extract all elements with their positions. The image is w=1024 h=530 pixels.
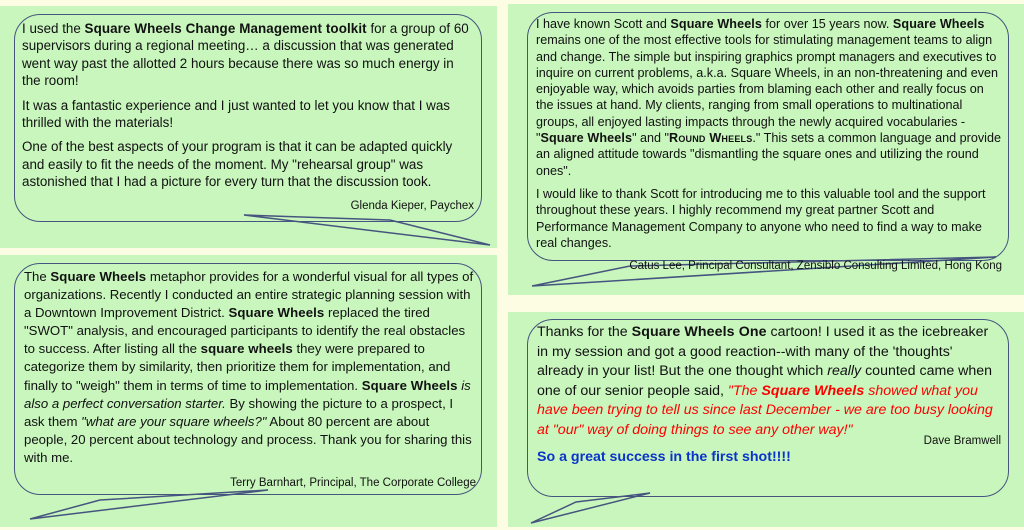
emphasis-square-wheels: Square Wheels bbox=[228, 305, 324, 320]
speech-bubble-tail-dave-bramwell bbox=[526, 490, 656, 530]
emphasis-square-wheels: Square Wheels bbox=[540, 131, 632, 145]
text-run: " and " bbox=[632, 131, 669, 145]
paragraph: It was a fantastic experience and I just… bbox=[22, 97, 474, 132]
paragraph: I have known Scott and Square Wheels for… bbox=[536, 16, 1002, 179]
emphasis-round-wheels: Round Wheels bbox=[669, 131, 752, 145]
emphasis-square-wheels: Square Wheels bbox=[670, 17, 762, 31]
text-run: for over 15 years now. bbox=[762, 17, 893, 31]
attribution-dave-bramwell: Dave Bramwell bbox=[924, 432, 1001, 452]
paragraph: One of the best aspects of your program … bbox=[22, 138, 474, 190]
text-run: Thanks for the bbox=[537, 324, 632, 340]
speech-bubble-tail-glenda-kieper bbox=[240, 211, 500, 251]
attribution-glenda-kieper: Glenda Kieper, Paychex bbox=[22, 198, 474, 215]
emphasis-square-wheels: Square Wheels bbox=[362, 378, 458, 393]
text-run: remains one of the most effective tools … bbox=[536, 33, 998, 145]
attribution-terry-barnhart: Terry Barnhart, Principal, The Corporate… bbox=[24, 474, 476, 492]
testimonial-panel-catus-lee: I have known Scott and Square Wheels for… bbox=[508, 4, 1024, 295]
emphasis-square-wheels-toolkit: Square Wheels Change Management toolkit bbox=[85, 21, 367, 36]
text-run: "The bbox=[728, 383, 761, 399]
text-run: I have known Scott and bbox=[536, 17, 670, 31]
attribution-catus-lee: Catus Lee, Principal Consultant, Zensibl… bbox=[536, 258, 1002, 274]
text-run: I used the bbox=[22, 21, 85, 36]
testimonial-panel-glenda-kieper: I used the Square Wheels Change Manageme… bbox=[0, 6, 497, 248]
paragraph: The Square Wheels metaphor provides for … bbox=[24, 268, 476, 467]
emphasis-really: really bbox=[827, 363, 861, 379]
closing-line-blue: So a great success in the first shot!!!! bbox=[537, 448, 791, 468]
testimonial-body-glenda-kieper: I used the Square Wheels Change Manageme… bbox=[22, 20, 474, 215]
text-run: The bbox=[24, 269, 50, 284]
testimonial-body-catus-lee: I have known Scott and Square Wheels for… bbox=[536, 16, 1002, 274]
speech-bubble-tail-terry-barnhart bbox=[24, 487, 274, 527]
testimonial-body-terry-barnhart: The Square Wheels metaphor provides for … bbox=[24, 268, 476, 492]
testimonials-collage: I used the Square Wheels Change Manageme… bbox=[0, 0, 1024, 527]
emphasis-square-wheels: Square Wheels bbox=[50, 269, 146, 284]
emphasis-square-wheels-one: Square Wheels One bbox=[632, 324, 767, 340]
testimonial-body-dave-bramwell: Thanks for the Square Wheels One cartoon… bbox=[537, 323, 1001, 467]
paragraph: I would like to thank Scott for introduc… bbox=[536, 186, 1002, 251]
paragraph: I used the Square Wheels Change Manageme… bbox=[22, 20, 474, 90]
emphasis-square-wheels-lower: square wheels bbox=[201, 341, 293, 356]
emphasis-square-wheels: Square Wheels bbox=[761, 383, 864, 399]
paragraph: Thanks for the Square Wheels One cartoon… bbox=[537, 323, 1001, 441]
emphasis-question-quote: "what are your square wheels?" bbox=[81, 414, 266, 429]
emphasis-square-wheels: Square Wheels bbox=[893, 17, 985, 31]
testimonial-panel-dave-bramwell: Thanks for the Square Wheels One cartoon… bbox=[508, 312, 1024, 527]
testimonial-panel-terry-barnhart: The Square Wheels metaphor provides for … bbox=[0, 255, 497, 527]
